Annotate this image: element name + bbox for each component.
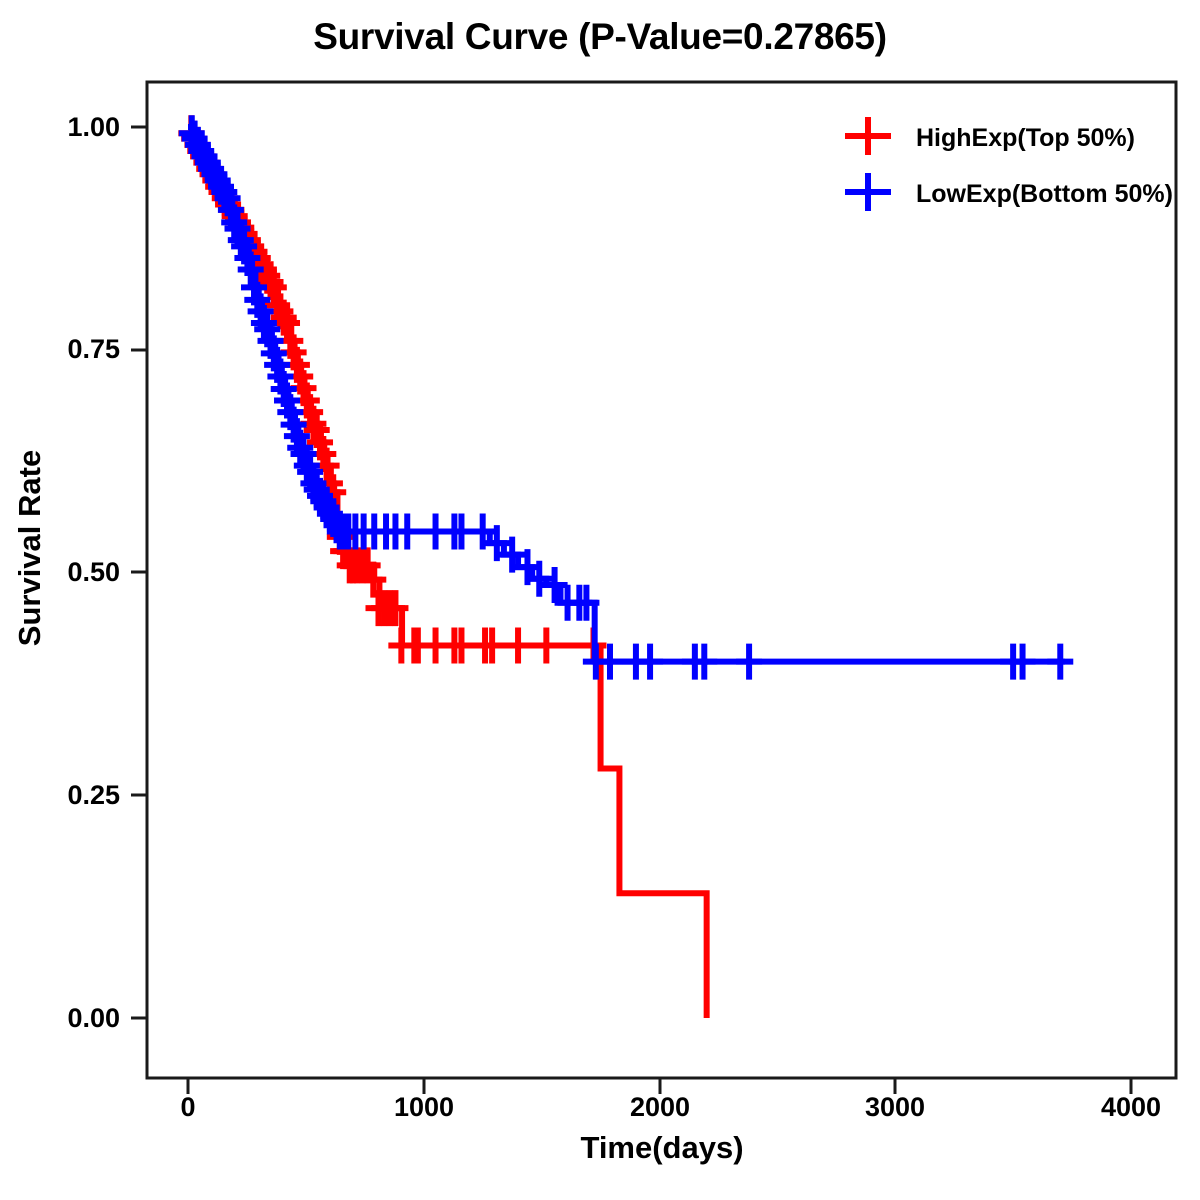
survival-curve-figure: Survival Curve (P-Value=0.27865) Surviva… bbox=[0, 0, 1200, 1200]
y-axis-ticks bbox=[131, 127, 147, 1018]
legend-label-high-exp: HighExp(Top 50%) bbox=[916, 124, 1135, 152]
legend-label-low-exp: LowExp(Bottom 50%) bbox=[916, 180, 1173, 208]
plot-area: HighExp(Top 50%) LowExp(Bottom 50%) bbox=[0, 0, 1200, 1200]
x-axis-ticks bbox=[188, 1078, 1131, 1094]
plot-border bbox=[147, 82, 1176, 1078]
